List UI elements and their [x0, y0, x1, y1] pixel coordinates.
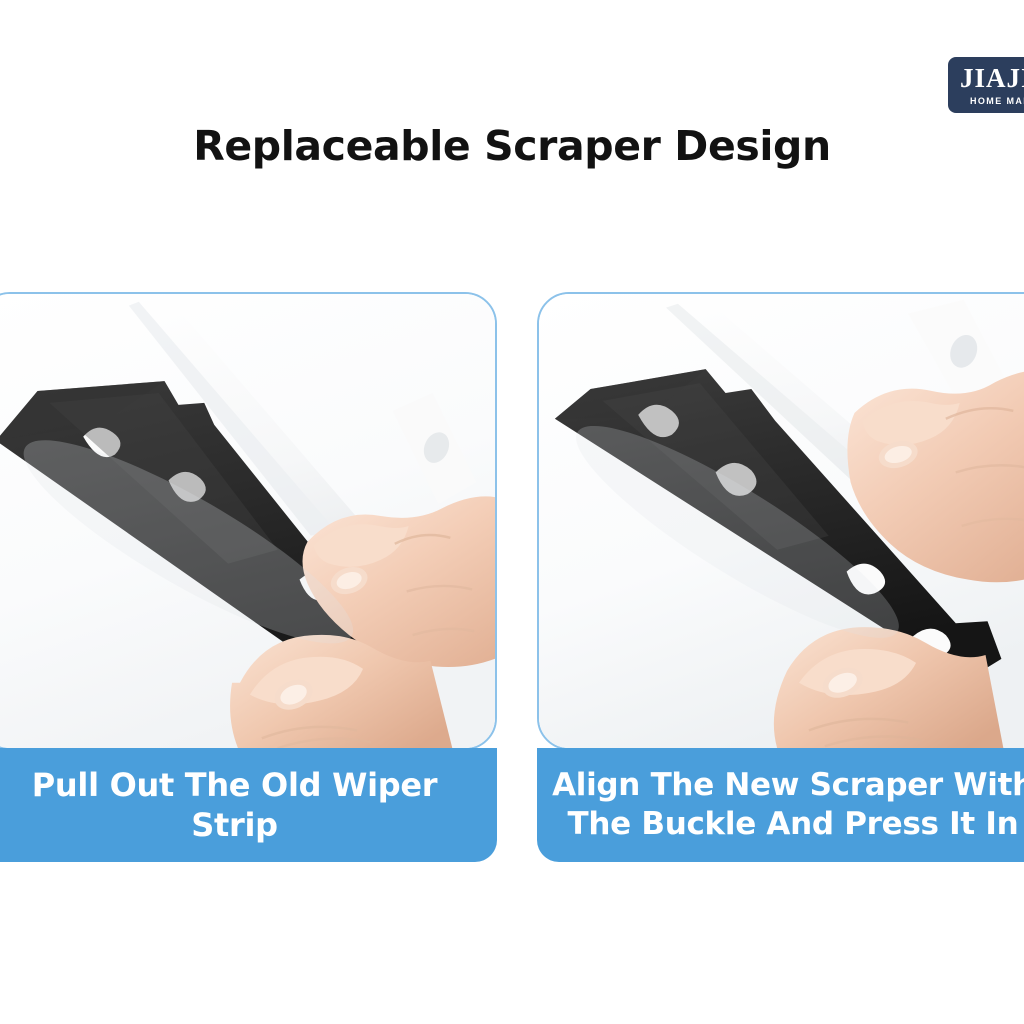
step-1-illustration: [0, 294, 495, 748]
step-1-photo: [0, 294, 495, 748]
step-panel-1: [0, 292, 497, 750]
step-panel-2: [537, 292, 1024, 750]
step-1-caption-text: Pull Out The Old Wiper Strip: [0, 765, 483, 846]
step-2-caption-banner: Align The New Scraper With The Buckle An…: [537, 748, 1024, 862]
step-2-caption-text: Align The New Scraper With The Buckle An…: [552, 766, 1024, 844]
page-title: Replaceable Scraper Design: [0, 122, 1024, 170]
step-2-illustration: [539, 294, 1024, 748]
brand-wordmark: JIAJI: [960, 65, 1024, 92]
step-2-photo: [539, 294, 1024, 748]
brand-logo-badge: JIAJI HOME MART: [948, 57, 1024, 113]
step-1-caption-banner: Pull Out The Old Wiper Strip: [0, 748, 497, 862]
brand-tagline: HOME MART: [970, 97, 1024, 106]
infographic-canvas: JIAJI HOME MART Replaceable Scraper Desi…: [0, 0, 1024, 1024]
